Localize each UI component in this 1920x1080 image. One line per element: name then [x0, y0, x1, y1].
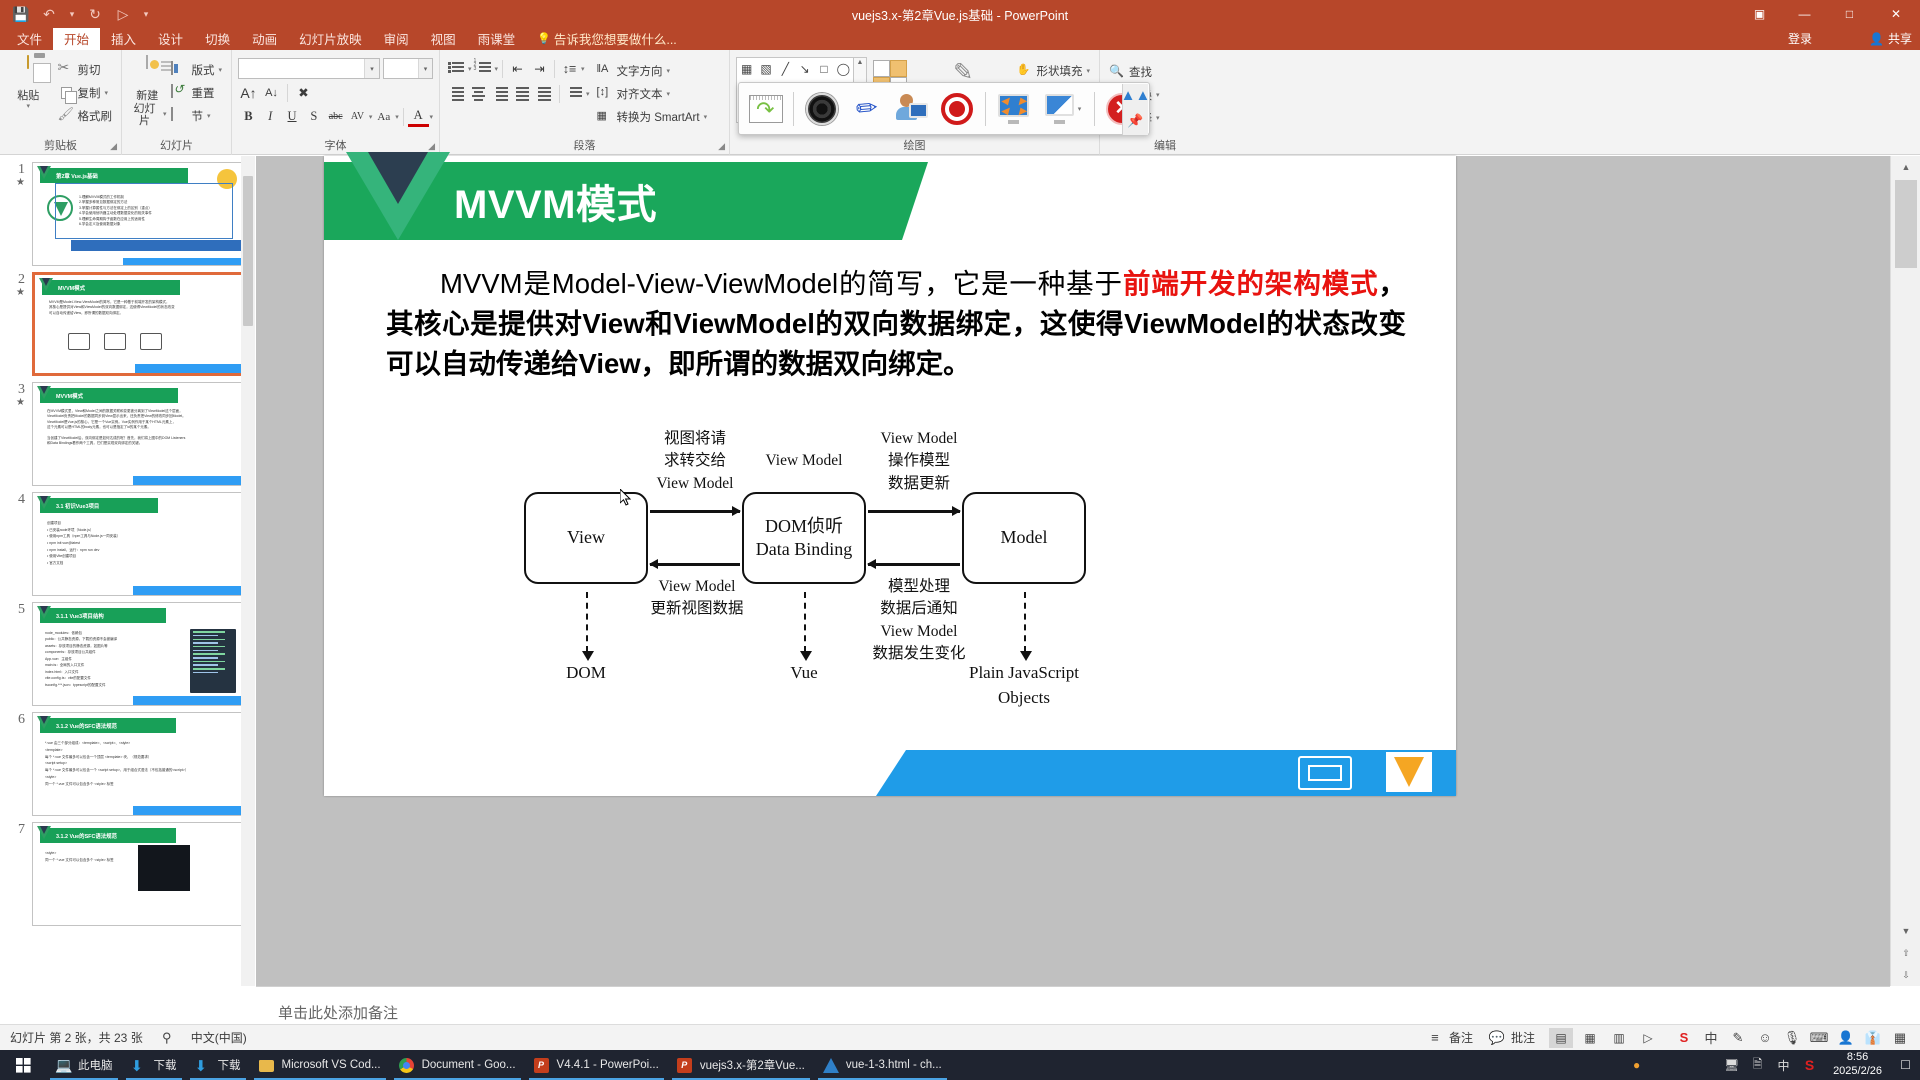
character-spacing-button[interactable]: AV — [347, 106, 368, 127]
return-icon — [749, 95, 783, 123]
bullets-button[interactable] — [446, 58, 467, 79]
annotation-pen-button[interactable]: ✏ — [846, 87, 887, 131]
taskbar-item-label: V4.4.1 - PowerPoi... — [557, 1059, 659, 1071]
label-line: 操作模型 — [864, 450, 974, 472]
scrollbar-thumb[interactable] — [1895, 180, 1917, 268]
thumbnail-row[interactable]: 6 3.1.2 Vue的SFC语法规范 *.vue 由三个部分组成：<templ… — [0, 706, 254, 816]
reset-icon — [171, 85, 187, 101]
taskbar-powerpoint-1[interactable]: P V4.4.1 - PowerPoi... — [525, 1050, 668, 1080]
start-button[interactable] — [0, 1050, 46, 1080]
label-line: 视图将请 — [642, 428, 748, 450]
thumbnail-scrollbar[interactable] — [241, 156, 255, 986]
taskbar-this-pc[interactable]: 💻 此电脑 — [46, 1050, 122, 1080]
body-line-1-tail: ， — [1379, 268, 1407, 299]
ribbon-group-paragraph: ▾ ▾ ⇤ ⇥ ↕≡ ▾ — [440, 50, 730, 155]
clipboard-dialog-launcher[interactable]: ◢ — [110, 141, 117, 152]
share-button[interactable]: 👤 共享 — [1869, 30, 1912, 47]
scroll-up-icon[interactable]: ▲ — [1891, 156, 1920, 178]
reading-view-button[interactable]: ▥ — [1607, 1028, 1631, 1048]
label-line: View Model — [642, 576, 752, 598]
label-viewmodel-to-model: View Model 操作模型 数据更新 — [864, 428, 974, 495]
paste-dropdown-icon[interactable]: ▾ — [26, 103, 30, 111]
shape-arrow-icon[interactable]: ↘ — [795, 58, 814, 79]
label-line: Plain JavaScript — [944, 661, 1104, 686]
ime-grid-icon[interactable]: ▦ — [1890, 1029, 1910, 1047]
thumbnail-title: 3.1.1 Vue3项目结构 — [40, 608, 166, 623]
decor-bar — [123, 258, 243, 265]
tray-onedrive-icon[interactable]: 🗎 — [1749, 1057, 1766, 1074]
thumbnail-line: 每个 *.vue 文件最多可以包含一个 <script setup>，用于组合式… — [45, 767, 234, 774]
strikethrough-button[interactable]: abc — [325, 106, 346, 127]
quick-style-1[interactable] — [873, 60, 890, 77]
language-label[interactable]: 中文(中国) — [191, 1029, 247, 1046]
text-direction-label: 文字方向 — [617, 63, 663, 79]
comment-icon: 💬 — [1487, 1029, 1507, 1047]
shrink-font-button[interactable]: A↓ — [261, 82, 282, 103]
format-painter-button[interactable]: 格式刷 — [55, 104, 116, 127]
powerpoint-icon: P — [677, 1057, 694, 1074]
slide-editing-area[interactable]: MVVM模式 MVVM是Model-View-ViewModel的简写，它是一种… — [256, 156, 1890, 986]
tray-network-icon[interactable]: 🖥 — [1723, 1057, 1740, 1074]
columns-dropdown-icon[interactable]: ▾ — [586, 90, 590, 98]
new-slide-dropdown-icon[interactable]: ▾ — [163, 111, 167, 119]
thumbnail-line: • npm install、运行：npm run dev — [47, 547, 234, 554]
line-spacing-button[interactable]: ↕≡ — [559, 58, 580, 79]
thumbnail-line: • 已安装node环境（Node.js） — [47, 527, 234, 534]
thumbnail-number: 1 ★ — [6, 162, 32, 266]
slides-group-label: 幻灯片 — [122, 137, 231, 153]
pc-icon: 💻 — [55, 1057, 72, 1074]
previous-slide-button[interactable]: ⇧ — [1891, 942, 1920, 964]
thumbnail-code-block — [138, 845, 190, 891]
shapes-scroll-up-icon[interactable]: ▲ — [857, 59, 864, 66]
thumbnail-number: 5 — [6, 602, 32, 706]
thumbnail-number-value: 5 — [18, 602, 25, 617]
font-color-button[interactable]: A — [408, 106, 429, 127]
tab-home[interactable]: 开始 — [53, 28, 100, 50]
thumbnail-body: 在MVVM模式里，View和Model之间的数据关联和变更被分离到了ViewMo… — [47, 409, 234, 447]
paste-icon — [12, 56, 44, 88]
slide-thumbnail-5[interactable]: 3.1.1 Vue3项目结构 node_modules：依赖包 public：公… — [32, 602, 244, 706]
mouse-cursor — [620, 489, 632, 507]
next-slide-button[interactable]: ⇩ — [1891, 964, 1920, 986]
sogou-ime-icon[interactable]: S — [1674, 1029, 1694, 1047]
label-line: View Model — [864, 428, 974, 450]
lightbulb-icon: 💡 — [537, 32, 551, 45]
dashed-arrow-view-dom — [586, 592, 588, 652]
notes-toggle-button[interactable]: ≡ 备注 — [1425, 1029, 1473, 1047]
layout-dropdown-icon[interactable]: ▾ — [218, 66, 222, 74]
slide-sorter-button[interactable]: ▦ — [1578, 1028, 1602, 1048]
smartart-dropdown-icon[interactable]: ▾ — [704, 113, 708, 121]
justify-button[interactable] — [512, 83, 533, 104]
tab-rainclassroom[interactable]: 雨课堂 — [467, 28, 527, 50]
window-controls: ▣ — □ ✕ — [1737, 0, 1920, 28]
divider — [287, 84, 288, 102]
taskbar-powerpoint-2[interactable]: P vuejs3.x-第2章Vue... — [668, 1050, 814, 1080]
select-dropdown-icon[interactable]: ▾ — [1156, 114, 1160, 122]
slide-count-label: 幻灯片 第 2 张，共 23 张 — [10, 1029, 143, 1046]
thumbnail-number-value: 7 — [18, 822, 25, 837]
section-icon — [171, 108, 187, 124]
shape-fill-label: 形状填充 — [1036, 63, 1082, 79]
numbering-dropdown-icon[interactable]: ▾ — [495, 65, 499, 73]
tray-sogou-icon[interactable]: S — [1801, 1057, 1818, 1074]
replace-dropdown-icon[interactable]: ▾ — [1156, 91, 1160, 99]
slide-area-scrollbar[interactable]: ▲ ▼ ⇧ ⇩ — [1890, 156, 1920, 986]
slide-title[interactable]: MVVM模式 — [454, 172, 657, 230]
thumbnail-body: *.vue 由三个部分组成：<template>、<script>、<style… — [45, 740, 234, 788]
thumbnail-code-block — [190, 629, 236, 693]
shape-fill-button[interactable]: ✋ 形状填充 ▾ — [1013, 59, 1093, 82]
thumbnail-title: MVVM模式 — [42, 280, 180, 295]
find-button[interactable]: 🔍 查找 — [1106, 60, 1224, 83]
ime-keyboard-icon[interactable]: ⌨ — [1809, 1029, 1829, 1047]
ime-mic-icon[interactable]: 🎙 — [1782, 1029, 1802, 1047]
line-spacing-dropdown-icon[interactable]: ▾ — [581, 65, 585, 73]
taskbar-vscode-folder[interactable]: Microsoft VS Cod... — [250, 1050, 390, 1080]
align-left-button[interactable] — [446, 83, 467, 104]
decor-bar — [135, 364, 241, 373]
thumbnail-number-value: 4 — [18, 492, 25, 507]
slideshow-button[interactable]: ▷ — [1636, 1028, 1660, 1048]
vue-logo-icon — [37, 166, 51, 179]
label-line: View Model — [860, 621, 978, 643]
viewmodel-line-2: Data Binding — [756, 538, 853, 561]
convert-smartart-button[interactable]: ▦ 转换为 SmartArt ▾ — [594, 105, 711, 128]
tray-app-icon[interactable]: ● — [1628, 1057, 1645, 1074]
thumbnail-line: 和Data Bindings看作两个工具，它们是实现双向绑定的关键。 — [47, 441, 234, 446]
thumbnail-body: 1.理解MVVM模式的工作机制 2.掌握多种常见数据绑定的方法 3.掌握计算属性… — [79, 195, 231, 228]
ime-emoji-icon[interactable]: ☺ — [1755, 1029, 1775, 1047]
display-dropdown-icon[interactable]: ▾ — [1078, 105, 1082, 113]
drawing-group-label: 绘图 — [730, 137, 1099, 153]
thumbnail-row[interactable]: 7 3.1.2 Vue的SFC语法规范 <style> 同一个 *.vue 文件… — [0, 816, 254, 926]
new-slide-label-2: 幻灯片 — [128, 103, 161, 128]
font-dialog-launcher[interactable]: ◢ — [428, 141, 435, 152]
ribbon-group-font: ▾ ▾ A↑ A↓ ✖ B I U S abc AV ▾ — [232, 50, 440, 155]
presenter-icon — [896, 94, 928, 124]
status-bar: 幻灯片 第 2 张，共 23 张 ⚲ 中文(中国) ≡ 备注 💬 批注 ▤ ▦ … — [0, 1024, 1920, 1050]
thumbnail-number-value: 3 — [18, 382, 25, 397]
thumbnail-line: • 使用Vite创建项目 — [47, 553, 234, 560]
font-name-dropdown-icon[interactable]: ▾ — [364, 59, 379, 78]
presenter-camera-button[interactable] — [892, 87, 933, 131]
thumbnail-title: 3.1 初识Vue3项目 — [40, 498, 158, 513]
chevron-up-icon[interactable]: ▲▲ — [1121, 90, 1151, 102]
powerpoint-window: 💾 ↶ ▾ ↻ ▷ ▾ vuejs3.x-第2章Vue.js基础 - Power… — [0, 0, 1920, 1080]
tab-slideshow[interactable]: 幻灯片放映 — [288, 28, 373, 50]
comments-toggle-button[interactable]: 💬 批注 — [1487, 1029, 1535, 1047]
label-vue: Vue — [764, 661, 844, 686]
cut-button[interactable]: 剪切 — [55, 58, 116, 81]
slide-body-text[interactable]: MVVM是Model-View-ViewModel的简写，它是一种基于前端开发的… — [386, 264, 1406, 384]
thumbnail-title: MVVM模式 — [40, 388, 178, 403]
slide-footer-banner — [906, 750, 1456, 796]
italic-button[interactable]: I — [260, 106, 281, 127]
thumbnail-number: 2 ★ — [6, 272, 32, 376]
taskbar-item-label: vue-1-3.html - ch... — [846, 1059, 942, 1071]
copy-button[interactable]: 复制 ▾ — [55, 81, 116, 104]
shape-textbox-icon[interactable]: ▦ — [737, 58, 756, 79]
fullscreen-button[interactable]: ◀ ▶ ◀ ▶ — [993, 87, 1034, 131]
body-line-1-highlight: 前端开发的架构模式 — [1123, 268, 1379, 299]
pencil-icon: ✏ — [855, 92, 879, 125]
distribute-button[interactable] — [534, 83, 555, 104]
paragraph-dialog-launcher[interactable]: ◢ — [718, 141, 725, 152]
taskbar-item-label: 下载 — [154, 1057, 177, 1073]
format-painter-label: 格式刷 — [78, 108, 113, 124]
shape-line-icon[interactable]: ╱ — [776, 58, 795, 79]
thumbnail-line: tsconfig.***.json：typescript的配置文件 — [45, 682, 181, 688]
divider — [985, 92, 986, 126]
dashed-arrow-viewmodel-vue — [804, 592, 806, 652]
reset-button[interactable]: 重置 — [168, 81, 225, 104]
text-shadow-button[interactable]: S — [303, 106, 324, 127]
taskbar-downloads-1[interactable]: ⬇ 下载 — [122, 1050, 186, 1080]
divider — [502, 60, 503, 78]
taskbar-item-label: 此电脑 — [78, 1057, 113, 1073]
restore-down-button[interactable]: ▣ — [1737, 0, 1782, 28]
text-direction-icon: ‖A — [597, 63, 613, 79]
change-case-button[interactable]: Aa — [373, 106, 394, 127]
label-line: 更新视图数据 — [642, 598, 752, 620]
slide-thumbnail-2[interactable]: MVVM模式 MVVM是Model-View-ViewModel的简写，它是一种… — [32, 272, 244, 376]
divider — [559, 85, 560, 103]
slide-thumbnail-3[interactable]: MVVM模式 在MVVM模式里，View和Model之间的数据关联和变更被分离到… — [32, 382, 244, 486]
tab-review[interactable]: 审阅 — [373, 28, 420, 50]
thumbnail-line: • 官方文档 — [47, 560, 234, 567]
thumbnail-number: 7 — [6, 822, 32, 926]
ribbon-tabs: 文件 开始 插入 设计 切换 动画 幻灯片放映 审阅 视图 雨课堂 💡 告诉我您… — [0, 28, 1920, 50]
shape-fill-dropdown-icon[interactable]: ▾ — [1086, 67, 1090, 75]
thumbnail-line: 6.学会定义及使用数据对象 — [79, 222, 231, 227]
decor-bar — [133, 476, 243, 485]
thumbnail-row[interactable]: 1 ★ 第2章 Vue.js基础 1.理解MVVM模式的工作机制 2.掌握多种常… — [0, 156, 254, 266]
underline-button[interactable]: U — [282, 106, 303, 127]
tab-view[interactable]: 视图 — [420, 28, 467, 50]
thumbnail-row[interactable]: 5 3.1.1 Vue3项目结构 node_modules：依赖包 public… — [0, 596, 254, 706]
layout-icon — [171, 62, 187, 78]
tab-animations[interactable]: 动画 — [241, 28, 288, 50]
ime-toolbox-icon[interactable]: 👔 — [1863, 1029, 1883, 1047]
search-icon: 🔍 — [1109, 64, 1125, 80]
shape-rectangle-icon[interactable]: □ — [814, 58, 833, 79]
divider — [793, 92, 794, 126]
label-viewmodel-title: View Model — [744, 450, 864, 472]
pin-icon[interactable]: 📌 — [1127, 113, 1143, 129]
audio-speaker-button[interactable] — [801, 87, 842, 131]
label-line: Objects — [944, 686, 1104, 711]
thumbnail-row[interactable]: 4 3.1 初识Vue3项目 创建项目 • 已安装node环境（Node.js）… — [0, 486, 254, 596]
thumbnail-title: 第2章 Vue.js基础 — [40, 168, 188, 183]
viewmodel-line-1: DOM侦听 — [765, 515, 843, 538]
animation-star-icon: ★ — [6, 287, 25, 298]
taskbar-item-label: 下载 — [218, 1057, 241, 1073]
clear-formatting-icon[interactable]: ✖ — [293, 82, 314, 103]
speaker-icon — [806, 93, 838, 125]
thumbnail-body: 创建项目 • 已安装node环境（Node.js） • 使用npm工具（npm工… — [47, 520, 234, 566]
tray-ime-icon[interactable]: 中 — [1775, 1057, 1792, 1074]
maximize-button[interactable]: □ — [1827, 0, 1872, 28]
undo-icon[interactable]: ↶ — [36, 3, 62, 25]
viewmodel-box[interactable]: DOM侦听 Data Binding — [742, 492, 866, 584]
tell-me-label: 告诉我您想要做什么... — [554, 29, 677, 48]
new-slide-button[interactable]: 新建 幻灯片 ▾ — [128, 54, 166, 128]
slide-thumbnail-7[interactable]: 3.1.2 Vue的SFC语法规范 <style> 同一个 *.vue 文件可以… — [32, 822, 244, 926]
ime-user-icon[interactable]: 👤 — [1836, 1029, 1856, 1047]
copy-dropdown-icon[interactable]: ▾ — [105, 89, 109, 97]
sign-in-label[interactable]: 登录 — [1788, 30, 1812, 47]
align-center-button[interactable] — [468, 83, 489, 104]
align-right-button[interactable] — [490, 83, 511, 104]
clipboard-group-label: 剪贴板 — [0, 137, 121, 153]
align-text-dropdown-icon[interactable]: ▾ — [667, 90, 671, 98]
layout-label: 版式 — [191, 62, 214, 78]
person-icon: 👤 — [1869, 32, 1884, 46]
font-size-dropdown-icon[interactable]: ▾ — [418, 59, 432, 78]
redo-icon[interactable]: ↻ — [82, 3, 108, 25]
thumbnail-line: • 使用npm工具（npm工具与Node.js一同安装） — [47, 533, 234, 540]
chrome-icon — [399, 1057, 416, 1074]
label-line: 模型处理 — [860, 576, 978, 598]
tab-file[interactable]: 文件 — [6, 28, 53, 50]
download-icon: ⬇ — [131, 1057, 148, 1074]
smartart-icon: ▦ — [597, 109, 613, 125]
section-button[interactable]: 节 ▾ — [168, 104, 225, 127]
ime-chinese-icon[interactable]: 中 — [1701, 1029, 1721, 1047]
taskbar-downloads-2[interactable]: ⬇ 下载 — [186, 1050, 250, 1080]
notes-placeholder: 单击此处添加备注 — [278, 1002, 398, 1023]
label-line: 数据更新 — [864, 473, 974, 495]
folder-icon — [259, 1057, 276, 1074]
powerpoint-icon: P — [534, 1057, 551, 1074]
model-box-label: Model — [1001, 526, 1048, 549]
record-button[interactable] — [937, 87, 978, 131]
download-icon: ⬇ — [195, 1057, 212, 1074]
shape-vertical-textbox-icon[interactable]: ▧ — [756, 58, 775, 79]
tab-insert[interactable]: 插入 — [100, 28, 147, 50]
undo-dropdown-icon[interactable]: ▾ — [64, 3, 80, 25]
start-slideshow-icon[interactable]: ▷ — [110, 3, 136, 25]
thumbnail-line: 创建项目 — [47, 520, 234, 527]
find-label: 查找 — [1129, 64, 1152, 80]
clock-date: 2025/2/26 — [1833, 1065, 1882, 1079]
scroll-down-icon[interactable]: ▼ — [1891, 920, 1920, 942]
format-painter-icon — [58, 108, 74, 124]
vue-logo-icon — [37, 496, 51, 509]
thumbnail-row[interactable]: 3 ★ MVVM模式 在MVVM模式里，View和Model之间的数据关联和变更… — [0, 376, 254, 486]
thumbnail-body: MVVM是Model-View-ViewModel的简写，它是一种基于前端开发的… — [49, 300, 232, 316]
vue-logo-icon — [37, 826, 51, 839]
decrease-indent-button[interactable]: ⇤ — [507, 58, 528, 79]
tell-me-box[interactable]: 💡 告诉我您想要做什么... — [526, 28, 688, 50]
paste-button[interactable]: 粘贴 ▾ — [6, 54, 51, 127]
thumbnail-title: 3.1.2 Vue的SFC语法规范 — [40, 718, 176, 733]
comments-label: 批注 — [1511, 1029, 1535, 1046]
text-direction-button[interactable]: ‖A 文字方向 ▾ — [594, 59, 711, 82]
return-to-presentation-button[interactable] — [745, 87, 786, 131]
layout-button[interactable]: 版式 ▾ — [168, 58, 225, 81]
arrow-viewmodel-to-model — [868, 510, 960, 513]
section-dropdown-icon[interactable]: ▾ — [207, 112, 211, 120]
divider — [1094, 92, 1095, 126]
customize-qat-icon[interactable]: ▾ — [138, 3, 154, 25]
divider — [403, 108, 404, 126]
slide-thumbnail-pane[interactable]: 1 ★ 第2章 Vue.js基础 1.理解MVVM模式的工作机制 2.掌握多种常… — [0, 156, 255, 986]
save-icon[interactable]: 💾 — [8, 3, 34, 25]
quick-style-2[interactable] — [890, 60, 907, 77]
arrow-model-to-viewmodel — [868, 563, 960, 566]
slide-thumbnail-4[interactable]: 3.1 初识Vue3项目 创建项目 • 已安装node环境（Node.js） •… — [32, 492, 244, 596]
change-case-dropdown-icon[interactable]: ▾ — [395, 113, 399, 121]
scrollbar-thumb[interactable] — [243, 176, 253, 326]
view-box-label: View — [567, 526, 605, 549]
toolbar-side-panel: ▲▲ 📌 — [1122, 84, 1148, 135]
numbering-button[interactable] — [473, 58, 494, 79]
slide-thumbnail-1[interactable]: 第2章 Vue.js基础 1.理解MVVM模式的工作机制 2.掌握多种常见数据绑… — [32, 162, 244, 266]
columns-button[interactable] — [564, 83, 585, 104]
current-slide[interactable]: MVVM模式 MVVM是Model-View-ViewModel的简写，它是一种… — [324, 156, 1456, 796]
label-viewmodel-to-view: View Model 更新视图数据 — [642, 576, 752, 621]
taskbar-clock[interactable]: 8:56 2025/2/26 — [1827, 1051, 1888, 1079]
ribbon-group-clipboard: 粘贴 ▾ 剪切 复制 ▾ 格式刷 — [0, 50, 122, 155]
tab-design[interactable]: 设计 — [147, 28, 194, 50]
ime-pen-icon[interactable]: ✎ — [1728, 1029, 1748, 1047]
label-line: View Model — [642, 473, 748, 495]
close-button[interactable]: ✕ — [1872, 0, 1920, 28]
slide-thumbnail-6[interactable]: 3.1.2 Vue的SFC语法规范 *.vue 由三个部分组成：<templat… — [32, 712, 244, 816]
thumbnail-number-value: 6 — [18, 712, 25, 727]
thumbnail-number: 6 — [6, 712, 32, 816]
taskbar-chrome[interactable]: Document - Goo... — [390, 1050, 525, 1080]
title-bar: 💾 ↶ ▾ ↻ ▷ ▾ vuejs3.x-第2章Vue.js基础 - Power… — [0, 0, 1920, 28]
display-select-button[interactable]: ▾ — [1038, 87, 1087, 131]
increase-indent-button[interactable]: ⇥ — [529, 58, 550, 79]
arrow-viewmodel-to-view — [650, 563, 740, 566]
model-box[interactable]: Model — [962, 492, 1086, 584]
shape-oval-icon[interactable]: ◯ — [834, 58, 853, 79]
taskbar-item-label: Document - Goo... — [422, 1059, 516, 1071]
font-color-dropdown-icon[interactable]: ▾ — [430, 113, 434, 121]
font-name-input[interactable]: ▾ — [238, 58, 380, 79]
character-spacing-dropdown-icon[interactable]: ▾ — [369, 113, 373, 121]
grow-font-button[interactable]: A↑ — [238, 82, 259, 103]
thumbnail-title: 3.1.2 Vue的SFC语法规范 — [40, 828, 176, 843]
animation-star-icon: ★ — [6, 397, 25, 408]
decor-bar — [133, 696, 243, 705]
normal-view-button[interactable]: ▤ — [1549, 1028, 1573, 1048]
notes-label: 备注 — [1449, 1029, 1473, 1046]
bullets-dropdown-icon[interactable]: ▾ — [468, 65, 472, 73]
text-direction-dropdown-icon[interactable]: ▾ — [667, 67, 671, 75]
monitor-icon — [1044, 94, 1076, 124]
accessibility-icon[interactable]: ⚲ — [157, 1029, 177, 1047]
share-label: 共享 — [1888, 30, 1912, 47]
notification-center-icon[interactable]: ☐ — [1897, 1057, 1914, 1074]
font-size-input[interactable]: ▾ — [383, 58, 433, 79]
taskbar-vscode[interactable]: vue-1-3.html - ch... — [814, 1050, 951, 1080]
divider — [554, 60, 555, 78]
align-text-button[interactable]: [↕] 对齐文本 ▾ — [594, 82, 711, 105]
vscode-icon — [823, 1057, 840, 1074]
minimize-button[interactable]: — — [1782, 0, 1827, 28]
vue-logo-icon — [346, 152, 450, 240]
bold-button[interactable]: B — [238, 106, 259, 127]
thumbnail-row[interactable]: 2 ★ MVVM模式 MVVM是Model-View-ViewModel的简写，… — [0, 266, 254, 376]
label-plain-js-objects: Plain JavaScript Objects — [944, 661, 1104, 710]
tab-transitions[interactable]: 切换 — [194, 28, 241, 50]
